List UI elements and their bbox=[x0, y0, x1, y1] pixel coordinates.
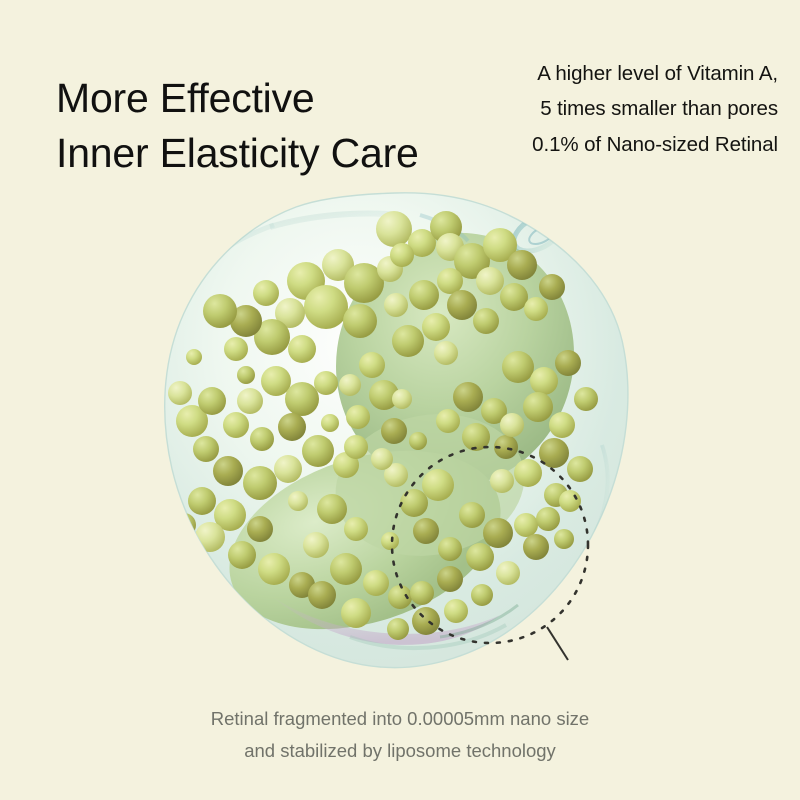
liposome-svg bbox=[150, 185, 640, 685]
footer-caption: Retinal fragmented into 0.00005mm nano s… bbox=[0, 703, 800, 767]
product-claims-block: A higher level of Vitamin A, 5 times sma… bbox=[468, 56, 778, 162]
page-title: More Effective Inner Elasticity Care bbox=[56, 71, 476, 179]
leader-line bbox=[547, 627, 568, 660]
caption-line-2: and stabilized by liposome technology bbox=[0, 735, 800, 767]
claim-line-2: 5 times smaller than pores bbox=[468, 91, 778, 126]
claim-line-1: A higher level of Vitamin A, bbox=[468, 56, 778, 91]
liposome-illustration bbox=[150, 185, 640, 685]
poster-canvas: More Effective Inner Elasticity Care A h… bbox=[0, 0, 800, 800]
caption-line-1: Retinal fragmented into 0.00005mm nano s… bbox=[0, 703, 800, 735]
claim-line-3: 0.1% of Nano-sized Retinal bbox=[468, 127, 778, 162]
